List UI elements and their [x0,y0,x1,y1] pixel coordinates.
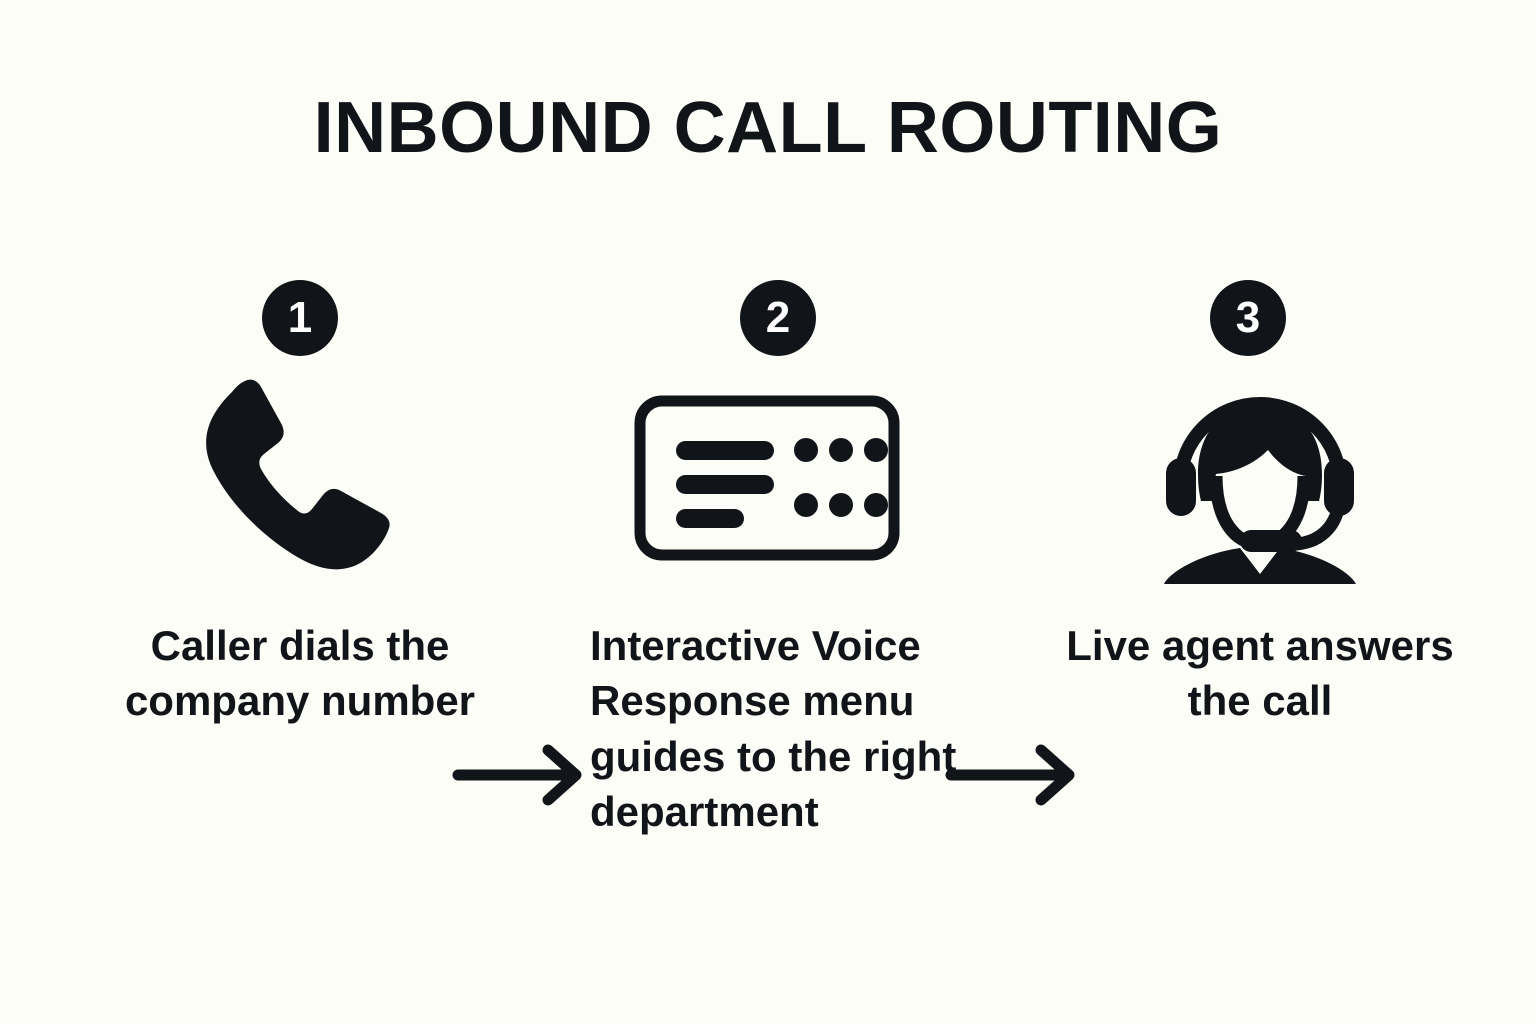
step-1-icon-row [120,360,480,600]
step-1: 1 Caller dials the company number [120,280,480,729]
step-2-badge-row: 2 [590,280,990,360]
step-3-caption: Live agent answers the call [1060,618,1460,729]
phone-handset-icon [195,378,405,583]
step-number-badge-3: 3 [1210,280,1286,356]
flow-diagram: 1 Caller dials the company number 2 [0,280,1536,920]
step-number-badge-1: 1 [262,280,338,356]
step-3: 3 [1060,280,1460,729]
step-number-badge-2: 2 [740,280,816,356]
ivr-keypad-menu-icon [632,393,902,568]
step-3-icon-row [1060,360,1460,600]
step-3-badge-row: 3 [1060,280,1460,360]
step-1-badge-row: 1 [120,280,480,360]
step-2-icon-row [590,360,990,600]
inbound-call-routing-infographic: INBOUND CALL ROUTING 1 Caller dials the … [0,0,1536,1024]
headset-agent-icon [1144,372,1376,589]
arrow-step1-to-step2 [452,740,592,810]
step-2: 2 [590,280,990,840]
page-title: INBOUND CALL ROUTING [0,92,1536,164]
step-1-caption: Caller dials the company number [120,618,480,729]
step-2-caption: Interactive Voice Response menu guides t… [590,618,990,840]
arrow-step2-to-step3 [945,740,1085,810]
